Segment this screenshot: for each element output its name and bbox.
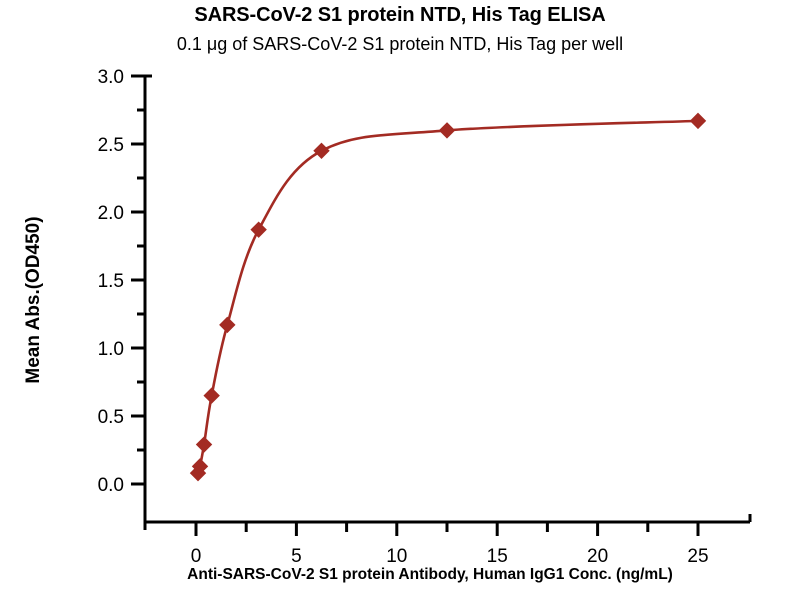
x-tick-label: 15 — [487, 546, 508, 567]
series-data-markers — [191, 113, 706, 480]
y-tick-label: 2.0 — [98, 203, 124, 224]
x-tick-label: 0 — [191, 546, 202, 567]
y-tick-labels: 0.00.51.01.52.02.53.0 — [98, 67, 124, 496]
data-point-marker — [220, 317, 235, 332]
x-tick-label: 25 — [687, 546, 708, 567]
data-point-marker — [197, 437, 212, 452]
x-tick-labels: 0510152025 — [191, 546, 709, 567]
plot-area: 0.00.51.01.52.02.53.0 0510152025 — [0, 0, 800, 600]
y-major-ticks — [131, 76, 152, 484]
y-tick-label: 0.5 — [98, 407, 124, 428]
series-fit-curve — [198, 121, 698, 473]
data-point-marker — [204, 388, 219, 403]
y-tick-label: 1.5 — [98, 271, 124, 292]
elisa-chart-figure: SARS-CoV-2 S1 protein NTD, His Tag ELISA… — [0, 0, 800, 600]
x-tick-label: 20 — [587, 546, 608, 567]
y-tick-label: 0.0 — [98, 475, 124, 496]
x-axis: 0510152025 — [145, 514, 750, 567]
x-major-ticks — [145, 514, 750, 536]
y-tick-label: 2.5 — [98, 135, 124, 156]
fit-curve — [198, 121, 698, 473]
x-tick-label: 10 — [386, 546, 407, 567]
y-axis: 0.00.51.01.52.02.53.0 — [98, 67, 152, 522]
data-point-marker — [314, 143, 329, 158]
data-point-marker — [251, 222, 266, 237]
x-tick-label: 5 — [291, 546, 302, 567]
y-tick-label: 1.0 — [98, 339, 124, 360]
data-point-marker — [691, 113, 706, 128]
data-point-marker — [440, 123, 455, 138]
y-tick-label: 3.0 — [98, 67, 124, 88]
